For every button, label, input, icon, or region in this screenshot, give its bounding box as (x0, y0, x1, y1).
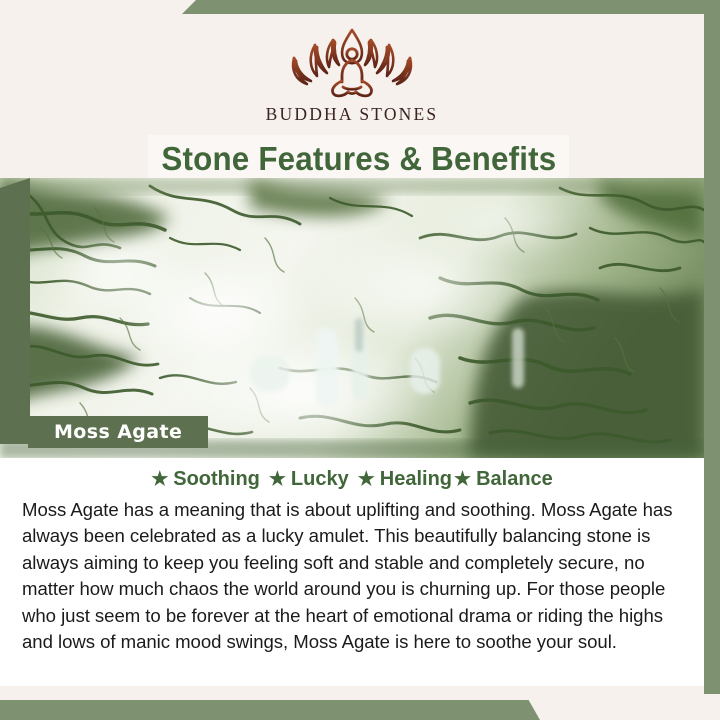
star-icon: ★ (269, 470, 286, 489)
stone-name-band: Moss Agate (28, 416, 208, 448)
stone-info-poster: BUDDHA STONES Stone Features & Benefits (0, 0, 720, 720)
decorative-strip-left (0, 178, 30, 444)
title-banner: Stone Features & Benefits (148, 135, 569, 182)
keyword-item: ★ Healing (349, 468, 452, 491)
keyword-item: ★ Lucky (260, 468, 349, 491)
poster-header: BUDDHA STONES Stone Features & Benefits (0, 14, 704, 178)
brand-logo: BUDDHA STONES (0, 24, 704, 125)
keyword-item: ★ Balance (452, 468, 553, 491)
keyword-label: Soothing (173, 468, 260, 491)
stone-name-label: Moss Agate (28, 421, 182, 443)
footer-strip (0, 686, 704, 700)
decorative-band-right (704, 0, 720, 694)
stone-description: Moss Agate has a meaning that is about u… (22, 497, 682, 655)
star-icon: ★ (358, 470, 375, 489)
star-icon: ★ (454, 470, 471, 489)
star-icon: ★ (151, 470, 168, 489)
content-panel: ★ Soothing ★ Lucky ★ Healing ★ Balance M… (0, 458, 704, 686)
page-title: Stone Features & Benefits (161, 140, 556, 178)
lotus-meditation-icon (277, 24, 427, 102)
keyword-item: ★ Soothing (151, 468, 260, 491)
keyword-list: ★ Soothing ★ Lucky ★ Healing ★ Balance (0, 458, 704, 491)
keyword-label: Lucky (291, 468, 349, 491)
keyword-label: Healing (380, 468, 452, 491)
poster-card: BUDDHA STONES Stone Features & Benefits (0, 14, 704, 686)
brand-name: BUDDHA STONES (266, 104, 439, 125)
keyword-label: Balance (476, 468, 553, 491)
